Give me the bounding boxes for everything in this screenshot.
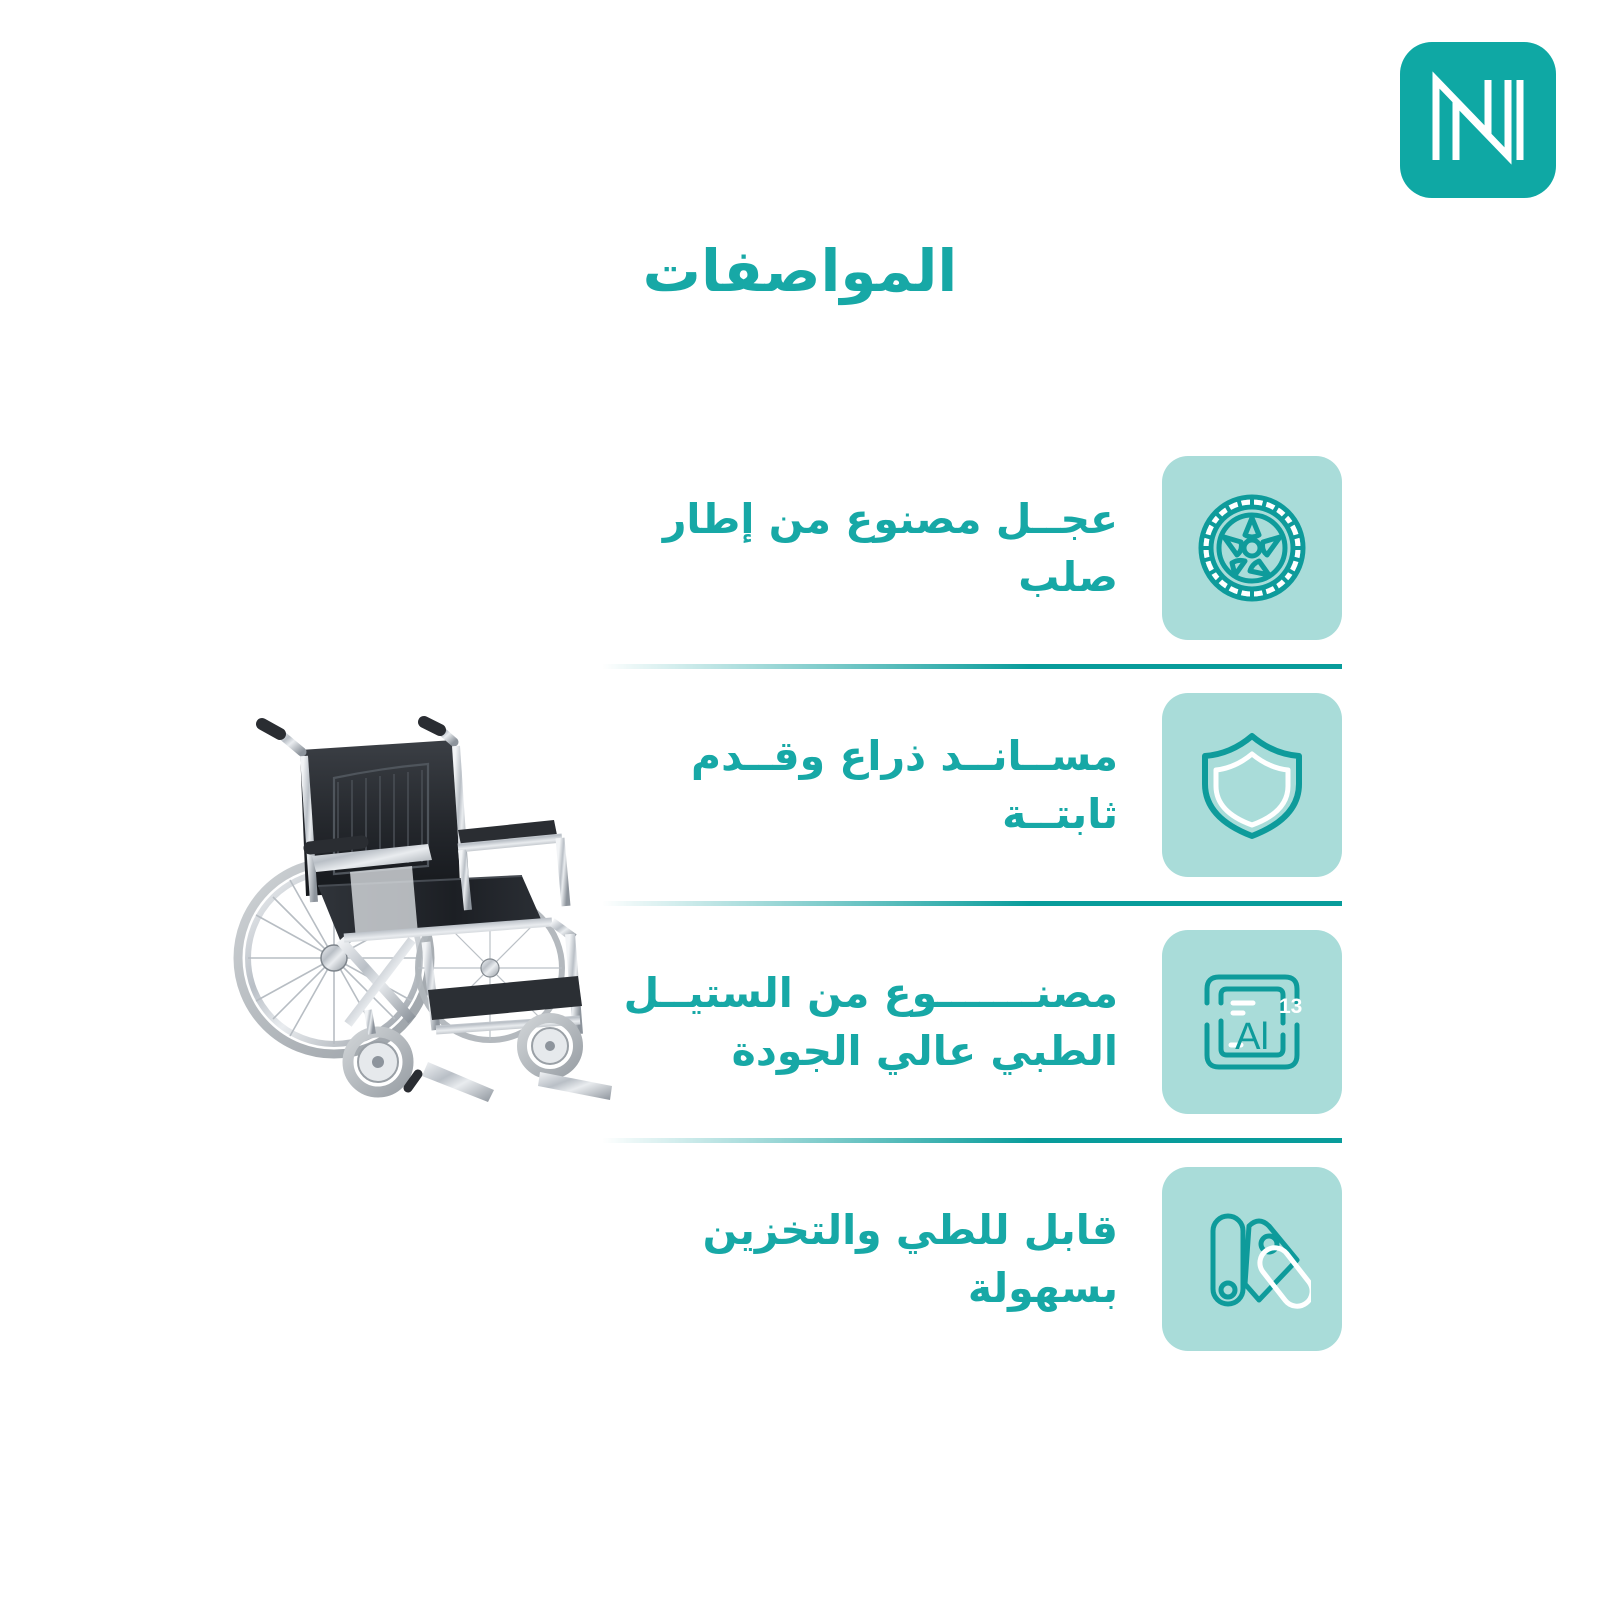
shield-icon <box>1193 726 1311 844</box>
aluminum-element-icon: 13 Al <box>1193 963 1311 1081</box>
element-symbol: Al <box>1235 1016 1269 1058</box>
spec-row: عجــل مصنوع من إطار صلب <box>602 432 1342 664</box>
spec-text: مصنـــــــوع من الستيــل الطبي عالي الجو… <box>602 964 1128 1080</box>
spec-text: عجــل مصنوع من إطار صلب <box>602 490 1128 606</box>
spec-row: 13 Al مصنـــــــوع من الستيــل الطبي عال… <box>602 906 1342 1138</box>
page-title: المواصفات <box>0 238 1600 305</box>
brand-logo <box>1400 42 1556 198</box>
spec-text: قابل للطي والتخزين بسهولة <box>602 1201 1128 1317</box>
spec-icon-tile <box>1162 693 1342 877</box>
specifications-infographic: المواصفات <box>0 0 1600 1600</box>
spec-row: قابل للطي والتخزين بسهولة <box>602 1143 1342 1375</box>
specifications-list: عجــل مصنوع من إطار صلب مســانــد ذراع و… <box>602 432 1342 1375</box>
spec-icon-tile <box>1162 456 1342 640</box>
spec-row: مســانــد ذراع وقــدم ثابتــة <box>602 669 1342 901</box>
spec-icon-tile: 13 Al <box>1162 930 1342 1114</box>
foldable-hinge-icon <box>1193 1200 1311 1318</box>
tire-wheel-icon <box>1193 489 1311 607</box>
double-n-monogram-logo-icon <box>1426 68 1530 172</box>
wheelchair-product-photo <box>222 690 642 1110</box>
element-atomic-number: 13 <box>1279 995 1302 1018</box>
spec-text: مســانــد ذراع وقــدم ثابتــة <box>602 727 1128 843</box>
wheelchair-illustration <box>222 690 642 1110</box>
spec-icon-tile <box>1162 1167 1342 1351</box>
